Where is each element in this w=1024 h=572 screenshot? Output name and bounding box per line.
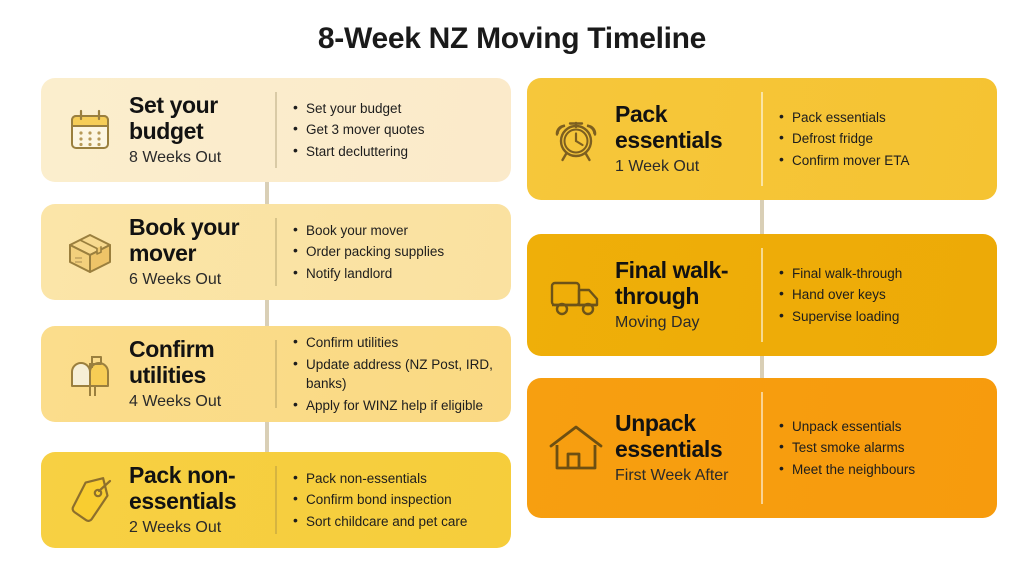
mailbox-icon [57, 348, 123, 400]
price-tag-icon [57, 474, 123, 526]
connector-right-1-2 [760, 196, 764, 234]
timeline-card-pack-non-essentials[interactable]: Pack non-essentials 2 Weeks Out Pack non… [41, 452, 511, 548]
list-item: Defrost fridge [779, 129, 981, 148]
card-timeframe: 1 Week Out [615, 157, 751, 176]
timeline-card-final-walk-through[interactable]: Final walk-through Moving Day Final walk… [527, 234, 997, 356]
card-task-list: Pack non-essentials Confirm bond inspect… [277, 466, 495, 533]
list-item: Confirm mover ETA [779, 151, 981, 170]
timeline-card-book-your-mover[interactable]: Book your mover 6 Weeks Out Book your mo… [41, 204, 511, 300]
card-heading: Unpack essentials First Week After [609, 410, 761, 485]
card-heading: Pack essentials 1 Week Out [609, 101, 761, 176]
connector-left-3-4 [265, 422, 269, 452]
timeline-card-set-your-budget[interactable]: Set your budget 8 Weeks Out Set your bud… [41, 78, 511, 182]
card-title: Pack essentials [615, 101, 751, 153]
card-timeframe: 4 Weeks Out [129, 392, 265, 411]
card-task-list: Pack essentials Defrost fridge Confirm m… [763, 105, 981, 172]
card-timeframe: First Week After [615, 466, 751, 485]
card-title: Confirm utilities [129, 336, 265, 388]
house-icon [543, 420, 609, 476]
moving-truck-icon [543, 270, 609, 320]
card-timeframe: Moving Day [615, 313, 751, 332]
card-timeframe: 6 Weeks Out [129, 270, 265, 289]
card-title: Book your mover [129, 214, 265, 266]
card-timeframe: 8 Weeks Out [129, 148, 265, 167]
list-item: Set your budget [293, 99, 495, 118]
card-timeframe: 2 Weeks Out [129, 518, 265, 537]
list-item: Confirm utilities [293, 333, 495, 352]
card-task-list: Unpack essentials Test smoke alarms Meet… [763, 414, 981, 481]
card-task-list: Book your mover Order packing supplies N… [277, 218, 495, 285]
page-title: 8-Week NZ Moving Timeline [0, 22, 1024, 56]
card-task-list: Set your budget Get 3 mover quotes Start… [277, 96, 495, 163]
timeline-card-confirm-utilities[interactable]: Confirm utilities 4 Weeks Out Confirm ut… [41, 326, 511, 422]
alarm-clock-icon [543, 112, 609, 166]
card-heading: Set your budget 8 Weeks Out [123, 92, 275, 167]
card-task-list: Confirm utilities Update address (NZ Pos… [277, 331, 495, 418]
card-title: Set your budget [129, 92, 265, 144]
list-item: Meet the neighbours [779, 460, 981, 479]
list-item: Update address (NZ Post, IRD, banks) [293, 355, 495, 393]
card-heading: Confirm utilities 4 Weeks Out [123, 336, 275, 411]
connector-left-2-3 [265, 296, 269, 326]
list-item: Supervise loading [779, 307, 981, 326]
list-item: Apply for WINZ help if eligible [293, 396, 495, 415]
infographic-root: 8-Week NZ Moving Timeline [0, 0, 1024, 572]
list-item: Pack non-essentials [293, 469, 495, 488]
card-heading: Book your mover 6 Weeks Out [123, 214, 275, 289]
list-item: Pack essentials [779, 108, 981, 127]
card-title: Pack non-essentials [129, 462, 265, 514]
list-item: Unpack essentials [779, 417, 981, 436]
card-title: Final walk-through [615, 257, 751, 309]
list-item: Final walk-through [779, 264, 981, 283]
timeline-card-pack-essentials[interactable]: Pack essentials 1 Week Out Pack essentia… [527, 78, 997, 200]
card-heading: Pack non-essentials 2 Weeks Out [123, 462, 275, 537]
timeline-card-unpack-essentials[interactable]: Unpack essentials First Week After Unpac… [527, 378, 997, 518]
list-item: Book your mover [293, 221, 495, 240]
card-title: Unpack essentials [615, 410, 751, 462]
card-heading: Final walk-through Moving Day [609, 257, 761, 332]
list-item: Notify landlord [293, 264, 495, 283]
card-task-list: Final walk-through Hand over keys Superv… [763, 261, 981, 328]
list-item: Confirm bond inspection [293, 490, 495, 509]
list-item: Hand over keys [779, 285, 981, 304]
list-item: Get 3 mover quotes [293, 120, 495, 139]
list-item: Order packing supplies [293, 242, 495, 261]
list-item: Test smoke alarms [779, 438, 981, 457]
moving-box-icon [57, 227, 123, 277]
list-item: Start decluttering [293, 142, 495, 161]
calendar-icon [57, 105, 123, 155]
list-item: Sort childcare and pet care [293, 512, 495, 531]
